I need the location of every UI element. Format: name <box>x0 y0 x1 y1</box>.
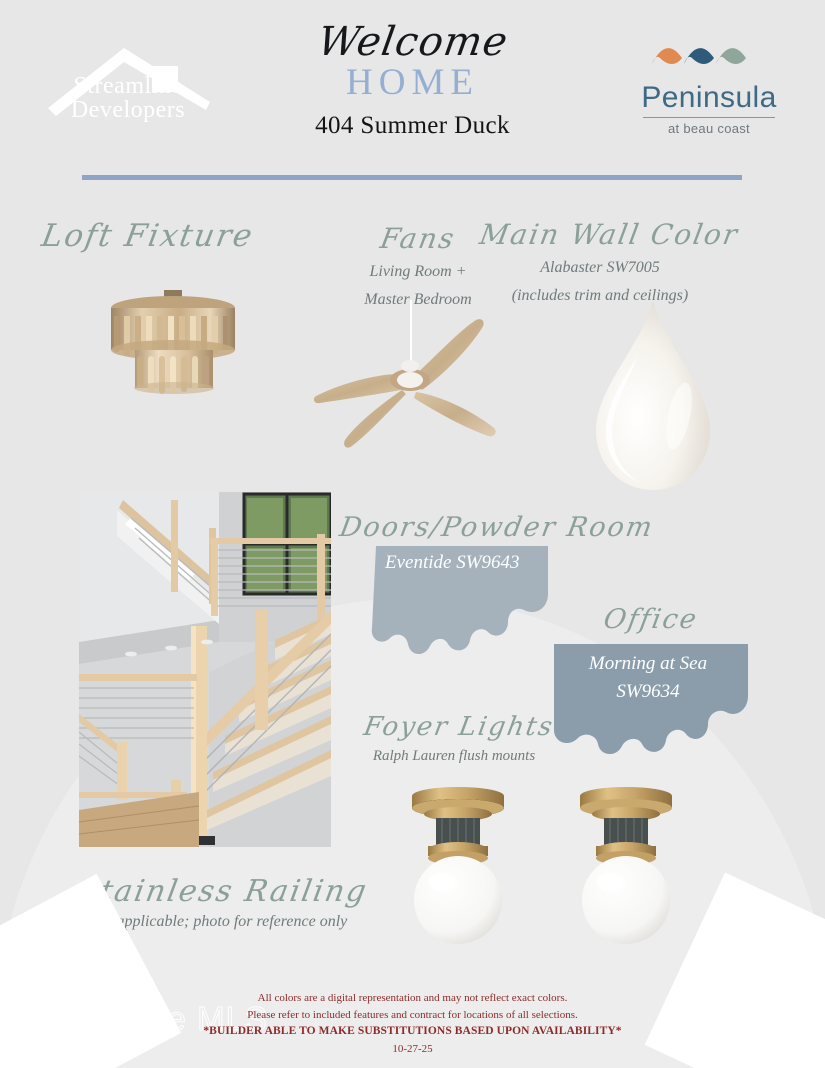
eventide-swatch-label: Eventide SW9643 <box>385 552 520 574</box>
builder-logo-line2: Developers <box>28 98 228 122</box>
morning-at-sea-swatch-label: Morning at Sea SW9634 <box>573 650 723 705</box>
section-main-wall-color: Main Wall Color Alabaster SW7005 (includ… <box>480 218 720 306</box>
design-selections-sheet: Streamline Developers Welcome HOME 404 S… <box>0 0 825 1068</box>
morning-at-sea-label-line2: SW9634 <box>573 678 723 706</box>
community-logo-rule <box>643 117 775 118</box>
stainless-railing-detail: where applicable; photo for reference on… <box>74 913 368 931</box>
header-divider <box>82 175 742 180</box>
main-wall-color-detail-line1: Alabaster SW7005 <box>480 257 720 279</box>
doors-powder-room-title: Doors/Powder Room <box>337 512 656 543</box>
section-foyer-lights: Foyer Lights Ralph Lauren flush mounts <box>364 712 544 765</box>
header: Streamline Developers Welcome HOME 404 S… <box>0 0 825 165</box>
footer-date: 10-27-25 <box>0 1040 825 1059</box>
foyer-light-fixture-left-image <box>396 782 520 954</box>
stainless-railing-title: Stainless Railing <box>75 874 371 909</box>
morning-at-sea-label-line1: Morning at Sea <box>573 650 723 678</box>
community-logo: Peninsula at beau coast <box>629 42 789 136</box>
page-title-block: Welcome HOME 404 Summer Duck <box>203 22 623 140</box>
brass-drum-chandelier-image <box>78 286 268 406</box>
builder-logo-text: Streamline Developers <box>28 74 228 123</box>
section-stainless-railing: Stainless Railing where applicable; phot… <box>78 874 368 931</box>
footer-line2: Please refer to included features and co… <box>0 1007 825 1024</box>
builder-logo-line1: Streamline <box>28 74 228 98</box>
section-doors-powder-room: Doors/Powder Room <box>340 512 654 543</box>
main-wall-color-title: Main Wall Color <box>477 218 723 251</box>
section-loft-fixture: Loft Fixture <box>42 218 254 254</box>
builder-logo: Streamline Developers <box>28 36 228 136</box>
foyer-lights-detail: Ralph Lauren flush mounts <box>364 748 544 765</box>
peninsula-waves-icon <box>634 42 784 76</box>
footer-line3: *BUILDER ABLE TO MAKE SUBSTITUTIONS BASE… <box>0 1023 825 1040</box>
office-title: Office <box>601 604 700 635</box>
footer-disclaimer: All colors are a digital representation … <box>0 990 825 1059</box>
section-office: Office <box>604 604 698 635</box>
home-word-text: HOME <box>203 64 623 103</box>
loft-fixture-title: Loft Fixture <box>39 218 257 254</box>
ceiling-fan-image <box>296 300 526 460</box>
property-address: 404 Summer Duck <box>203 112 623 140</box>
community-logo-name: Peninsula <box>629 83 789 113</box>
community-logo-tagline: at beau coast <box>629 121 789 136</box>
foyer-lights-title: Foyer Lights <box>361 712 546 742</box>
white-paint-droplet-image <box>578 296 728 496</box>
footer-line1: All colors are a digital representation … <box>0 990 825 1007</box>
welcome-script-text: Welcome <box>199 22 625 62</box>
foyer-light-fixture-right-image <box>564 782 688 954</box>
staircase-reference-photo <box>79 492 331 847</box>
